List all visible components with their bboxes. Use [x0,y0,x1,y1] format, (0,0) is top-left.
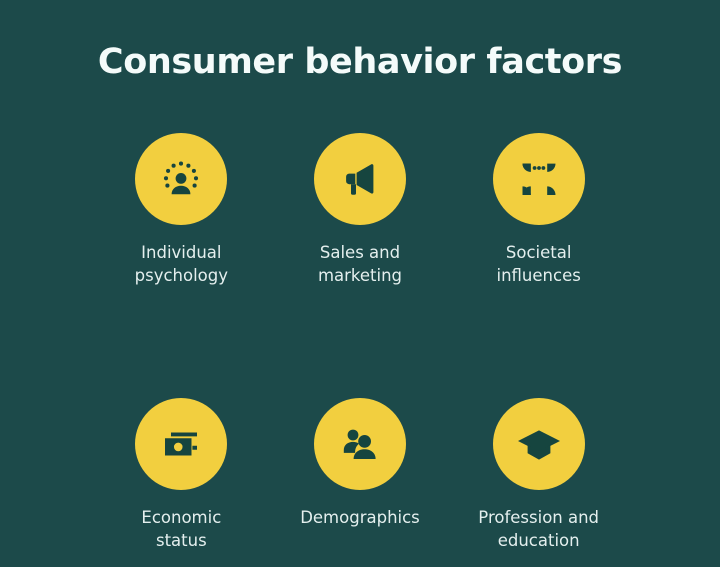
megaphone-icon [337,156,383,202]
person-with-halo-dots-icon [158,156,204,202]
group-of-people-icon [337,421,383,467]
icon-badge [314,133,406,225]
factor-item-profession-and-education[interactable]: Profession and education [449,398,628,553]
factor-item-sales-and-marketing[interactable]: Sales and marketing [271,133,450,288]
banknotes-icon [158,421,204,467]
factor-label: Sales and marketing [318,241,402,288]
factor-item-individual-psychology[interactable]: Individual psychology [92,133,271,288]
factor-label: Societal influences [497,241,581,288]
icon-badge [314,398,406,490]
page-title: Consumer behavior factors [0,42,720,82]
graduation-cap-icon [516,421,562,467]
factors-grid: Individual psychology Sales and marketin… [92,133,628,553]
factor-item-economic-status[interactable]: Economic status [92,398,271,553]
icon-badge [493,398,585,490]
factor-label: Profession and education [478,506,599,553]
factor-label: Individual psychology [135,241,228,288]
icon-badge [135,398,227,490]
factor-label: Economic status [141,506,221,553]
icon-badge [493,133,585,225]
infographic-canvas: Consumer behavior factors [0,0,720,567]
two-people-conversation-icon [516,156,562,202]
factor-label: Demographics [300,506,420,529]
factor-item-demographics[interactable]: Demographics [271,398,450,553]
icon-badge [135,133,227,225]
factor-item-societal-influences[interactable]: Societal influences [449,133,628,288]
